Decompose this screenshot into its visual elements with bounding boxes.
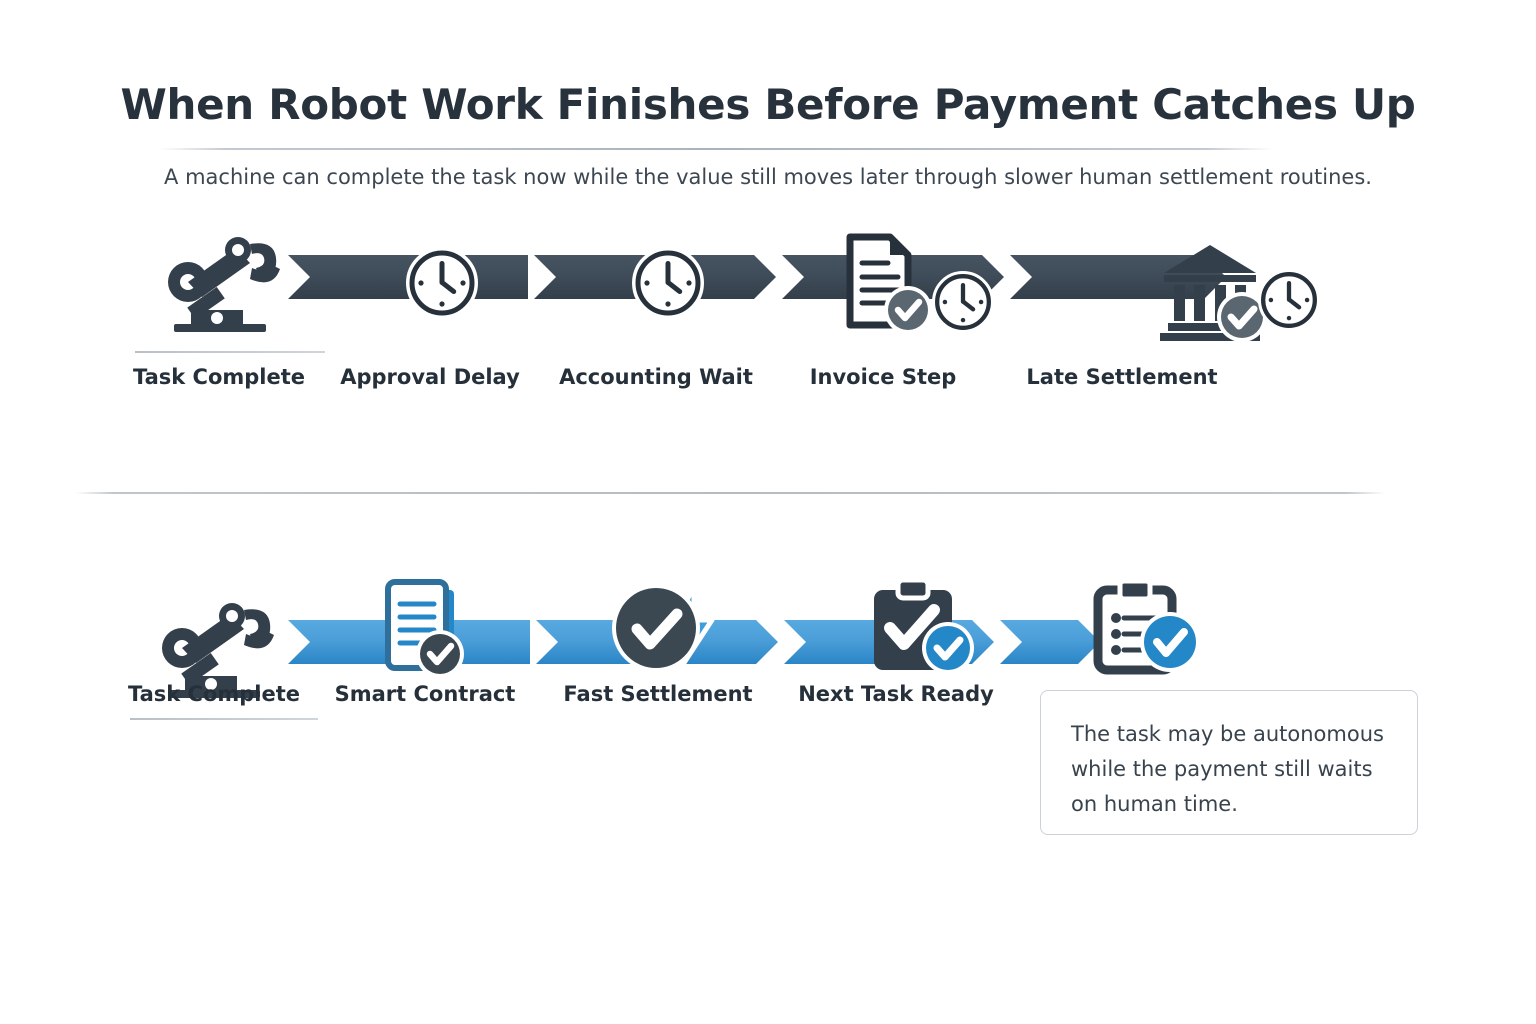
step-label-next-task-ready: Next Task Ready: [790, 682, 1002, 706]
slow-flow-row: Task Complete Approval Delay Accounting …: [0, 255, 1536, 405]
robot-base-rule: [130, 718, 318, 720]
bank-check-clock-icon: [1158, 237, 1274, 343]
step-label-late-settlement: Late Settlement: [1016, 365, 1228, 389]
infographic-canvas: When Robot Work Finishes Before Payment …: [0, 0, 1536, 1024]
clock-icon: [1258, 269, 1320, 331]
section-divider: [75, 492, 1385, 494]
title-divider: [160, 148, 1272, 150]
callout-line-3: on human time.: [1071, 787, 1387, 822]
callout-line-2: while the payment still waits: [1071, 752, 1387, 787]
step-label-approval-delay: Approval Delay: [325, 365, 535, 389]
robot-arm-icon: [152, 596, 280, 696]
clock-icon: [632, 247, 704, 319]
clipboard-check-badge-icon: [866, 578, 976, 678]
contract-document-check-icon: [378, 578, 482, 682]
step-label-fast-settlement: Fast Settlement: [552, 682, 764, 706]
robot-base-rule: [135, 351, 325, 353]
step-label-accounting-wait: Accounting Wait: [550, 365, 762, 389]
checklist-clipboard-badge-icon: [1090, 580, 1204, 678]
flow-segment-4: [1000, 620, 1100, 664]
step-label-task-complete: Task Complete: [112, 365, 326, 389]
check-circle-bolt-icon: [608, 580, 728, 680]
clock-icon: [932, 271, 994, 333]
callout-line-1: The task may be autonomous: [1071, 717, 1387, 752]
callout-box: The task may be autonomous while the pay…: [1040, 690, 1418, 835]
step-label-smart-contract: Smart Contract: [320, 682, 530, 706]
clock-icon: [406, 247, 478, 319]
robot-arm-icon: [158, 230, 286, 330]
page-subtitle: A machine can complete the task now whil…: [0, 165, 1536, 189]
invoice-document-check-icon: [846, 233, 932, 341]
page-title: When Robot Work Finishes Before Payment …: [0, 80, 1536, 129]
step-label-invoice-step: Invoice Step: [778, 365, 988, 389]
step-label-task-complete: Task Complete: [107, 682, 321, 706]
